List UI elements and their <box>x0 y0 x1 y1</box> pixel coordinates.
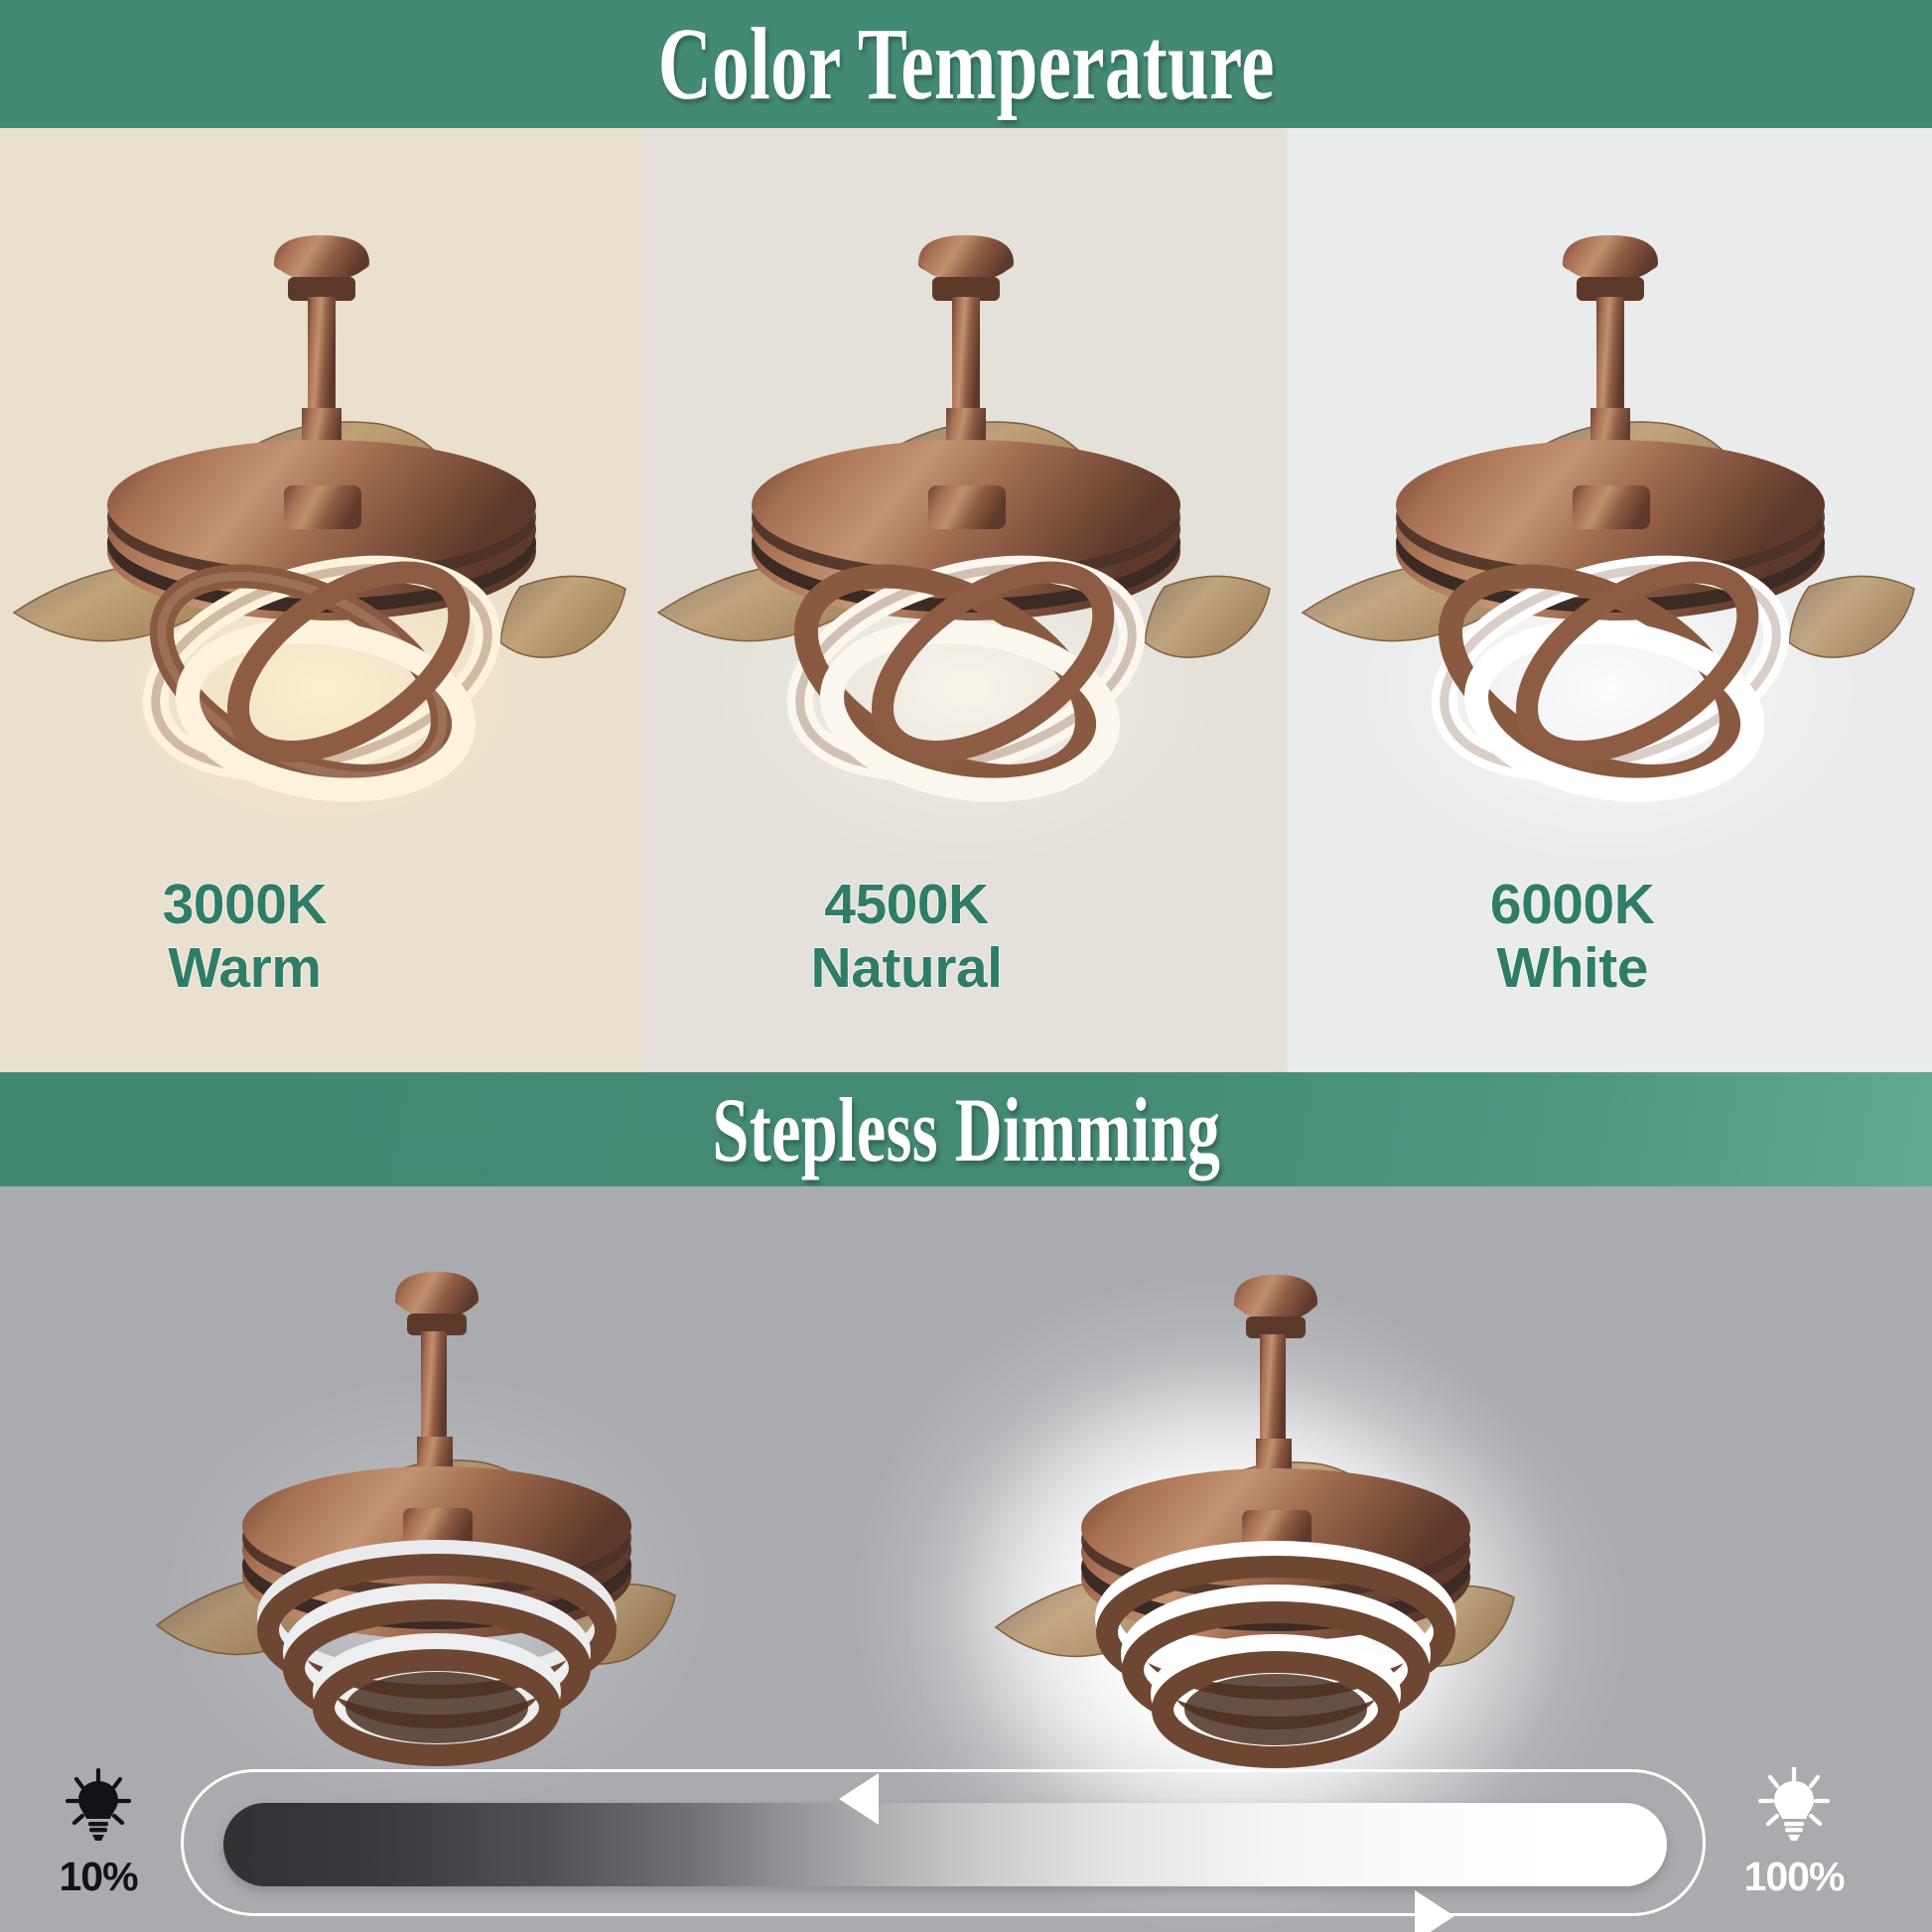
stepless-dimming-title: Stepless Dimming <box>712 1077 1220 1182</box>
temp-name: Natural <box>585 936 1229 1000</box>
brightness-low-group: 10% <box>34 1767 163 1900</box>
color-temperature-panels: 3000K Warm <box>0 128 1932 1072</box>
temp-value: 6000K <box>1490 873 1654 936</box>
dimming-slider-fill[interactable] <box>223 1803 1667 1886</box>
product-infographic: Color Temperature <box>0 0 1932 1932</box>
arrow-left-icon[interactable] <box>839 1773 879 1825</box>
fan-svg-natural <box>648 219 1284 875</box>
ceiling-fan-illustration-3000k <box>4 219 639 880</box>
temperature-label-4500k: 4500K Natural <box>585 873 1229 1001</box>
temp-value: 4500K <box>824 873 988 936</box>
lightbulb-dim-icon <box>62 1767 135 1845</box>
fan-svg-warm <box>4 219 639 875</box>
color-temperature-banner: Color Temperature <box>0 0 1932 128</box>
temp-name: Warm <box>0 936 567 1000</box>
temperature-label-6000k: 6000K White <box>1250 873 1894 1001</box>
temperature-label-3000k: 3000K Warm <box>0 873 567 1001</box>
arrow-right-icon[interactable] <box>1415 1890 1454 1932</box>
fan-svg-dim <box>79 1196 814 1832</box>
dimming-slider-track[interactable] <box>181 1769 1706 1916</box>
brightness-low-label: 10% <box>34 1854 163 1900</box>
ceiling-fan-illustration-4500k <box>648 219 1284 880</box>
ceiling-fan-illustration-bright <box>898 1186 1673 1847</box>
color-temperature-title: Color Temperature <box>657 5 1274 123</box>
lightbulb-bright-icon <box>1757 1767 1831 1845</box>
fan-svg-white <box>1293 219 1928 875</box>
ceiling-fan-illustration-dim <box>79 1196 814 1837</box>
temp-value: 3000K <box>163 873 327 936</box>
temperature-panel-6000k: 6000K White <box>1288 128 1932 1072</box>
brightness-high-group: 100% <box>1729 1767 1859 1900</box>
dimming-slider-control[interactable]: 10% 10 <box>0 1757 1932 1932</box>
temp-name: White <box>1250 936 1894 1000</box>
temperature-panel-4500k: 4500K Natural <box>644 128 1289 1072</box>
brightness-high-label: 100% <box>1729 1854 1859 1900</box>
fan-svg-bright <box>898 1186 1673 1842</box>
ceiling-fan-illustration-6000k <box>1293 219 1928 880</box>
stepless-dimming-banner: Stepless Dimming <box>0 1072 1932 1186</box>
temperature-panel-3000k: 3000K Warm <box>0 128 644 1072</box>
